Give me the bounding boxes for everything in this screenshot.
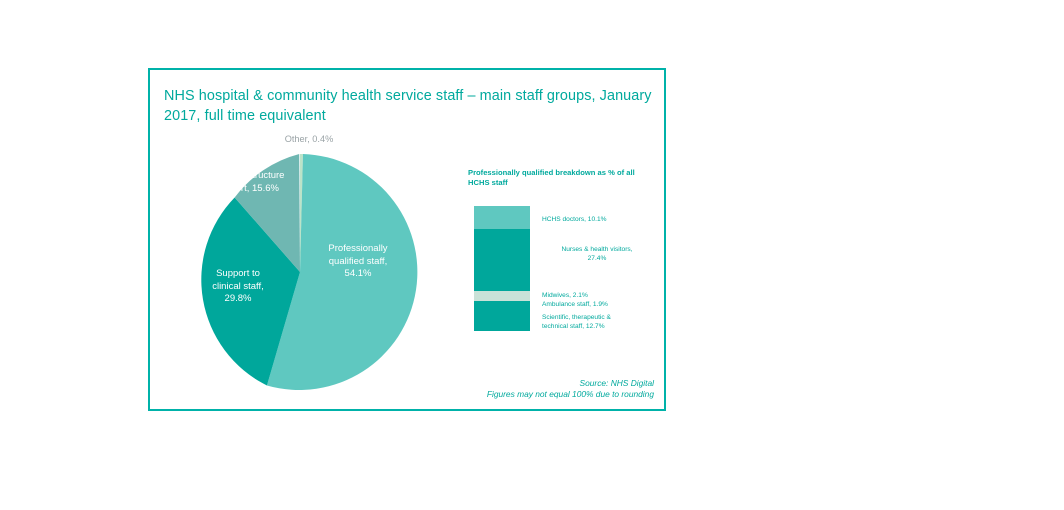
bar-segment-scientific-therapeutic-technical — [474, 301, 530, 331]
pie-label-other: Other, 0.4% — [264, 134, 354, 144]
bar-label-nurses-line2: 27.4% — [542, 255, 652, 264]
bar-label-ambulance-staff: Ambulance staff, 1.9% — [542, 301, 654, 310]
bar-label-nurses-line1: Nurses & health visitors, — [542, 246, 652, 255]
pie-chart: Other, 0.4% Professionally qualified sta… — [160, 130, 440, 392]
stacked-bar-chart: Professionally qualified breakdown as % … — [468, 168, 664, 393]
pie-svg — [180, 152, 420, 392]
chart-footer: Source: NHS Digital Figures may not equa… — [487, 378, 654, 400]
page-title: NHS hospital & community health service … — [164, 86, 652, 126]
bar-label-nurses-health-visitors: Nurses & health visitors, 27.4% — [542, 246, 652, 263]
stacked-bar-column — [474, 206, 530, 331]
bar-label-scientific-therapeutic-technical: Scientific, therapeutic & technical staf… — [542, 314, 654, 331]
bar-label-scientific-line1: Scientific, therapeutic & — [542, 314, 654, 323]
rounding-note: Figures may not equal 100% due to roundi… — [487, 389, 654, 400]
bar-label-hchs-doctors: HCHS doctors, 10.1% — [542, 216, 652, 225]
bar-label-scientific-line2: technical staff, 12.7% — [542, 323, 654, 332]
source-text: Source: NHS Digital — [487, 378, 654, 389]
bar-label-midwives: Midwives, 2.1% — [542, 292, 654, 301]
chart-card: NHS hospital & community health service … — [148, 68, 666, 411]
bar-segment-nurses-health-visitors — [474, 229, 530, 291]
stacked-bar-heading: Professionally qualified breakdown as % … — [468, 168, 648, 188]
bar-label-midwives-ambulance: Midwives, 2.1% Ambulance staff, 1.9% — [542, 292, 654, 309]
bar-segment-hchs-doctors — [474, 206, 530, 229]
